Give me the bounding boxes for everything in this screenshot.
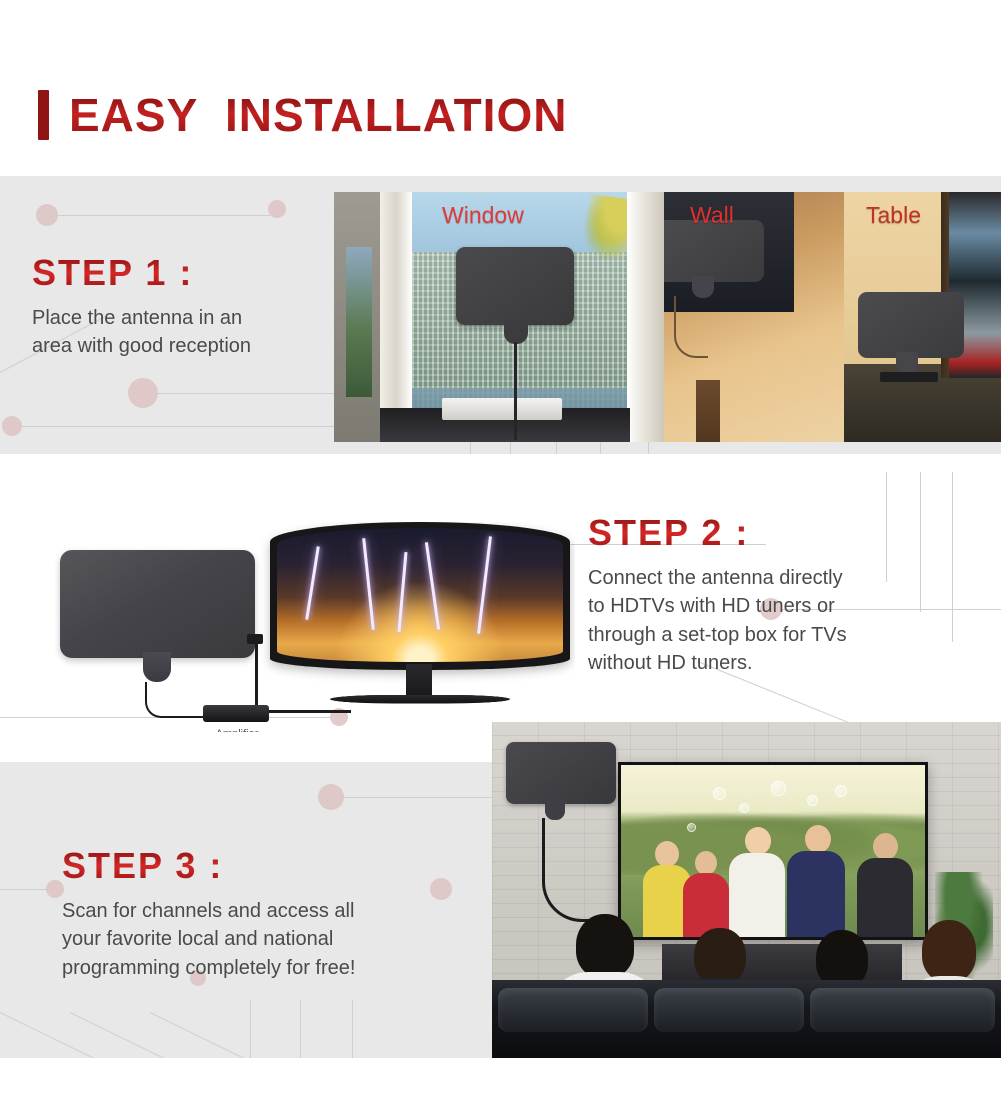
photo-label-table: Table	[866, 202, 921, 229]
circuit-node	[318, 784, 344, 810]
photo-label-wall: Wall	[690, 202, 734, 229]
soap-bubble	[835, 785, 847, 797]
step-3-body-line: your favorite local and national	[62, 925, 492, 953]
step-1-text-block: STEP 1 : Place the antenna in an area wi…	[32, 252, 352, 361]
antenna-panel	[60, 550, 255, 658]
antenna-stand	[880, 372, 938, 382]
step-3-body-line: programming completely for free!	[62, 954, 492, 982]
amplifier-label: Amplifier	[195, 728, 279, 732]
step-1-body-line: area with good reception	[32, 332, 352, 360]
soap-bubble	[739, 803, 749, 813]
tv-screen-lightning	[277, 528, 563, 662]
lightning-bolt	[425, 542, 440, 629]
step-2-body-line: through a set-top box for TVs	[588, 621, 980, 649]
page-title: EASY INSTALLATION	[69, 88, 567, 142]
step-2-text-block: STEP 2 : Connect the antenna directly to…	[588, 512, 980, 678]
circuit-trace	[22, 426, 352, 427]
sofa-cushion	[654, 988, 804, 1032]
leather-sofa	[492, 980, 1001, 1058]
step-2-body-line: without HD tuners.	[588, 649, 980, 677]
scene-table: Table	[844, 192, 1001, 442]
soap-bubble	[771, 781, 786, 796]
title-accent-bar	[38, 90, 49, 140]
antenna-tab	[692, 276, 714, 298]
wall-mounted-tv	[618, 762, 928, 940]
antenna-panel	[506, 742, 616, 804]
circuit-node	[2, 416, 22, 436]
step-3-body-line: Scan for channels and access all	[62, 897, 492, 925]
lightning-bolt	[305, 546, 319, 619]
antenna-tab	[545, 798, 565, 820]
lightning-bolt	[477, 536, 491, 634]
lightning-bolt	[398, 552, 407, 632]
step-2-body-line: to HDTVs with HD tuners or	[588, 592, 980, 620]
step-2-heading: STEP 2 :	[588, 512, 980, 554]
step-3-text-block: STEP 3 : Scan for channels and access al…	[62, 845, 492, 982]
set-top-box	[442, 398, 562, 420]
antenna-tab	[896, 352, 918, 374]
sofa-cushion	[498, 988, 648, 1032]
lightning-bolt	[362, 538, 374, 630]
circuit-trace	[0, 889, 46, 890]
step-2-photo: Amplifier	[55, 522, 575, 732]
antenna-cable	[542, 818, 618, 922]
sofa-cushion	[810, 988, 995, 1032]
circuit-trace	[344, 797, 494, 798]
soap-bubble	[713, 787, 726, 800]
photo-label-window: Window	[442, 202, 524, 229]
circuit-node	[128, 378, 158, 408]
amplifier-power-cable	[255, 642, 258, 710]
antenna-cable	[514, 342, 517, 440]
tv-stand-neck	[406, 664, 432, 698]
usb-plug	[247, 634, 263, 644]
circuit-trace	[70, 1012, 178, 1058]
soap-bubble	[687, 823, 696, 832]
step-1-heading: STEP 1 :	[32, 252, 352, 294]
circuit-trace	[250, 1000, 251, 1058]
antenna-tab	[504, 320, 528, 344]
circuit-trace	[150, 1012, 258, 1058]
header: EASY INSTALLATION	[0, 0, 1001, 176]
antenna-cable	[145, 682, 207, 718]
step-1-body: Place the antenna in an area with good r…	[32, 304, 352, 361]
palm-leaf	[571, 193, 634, 272]
circuit-trace	[300, 1000, 301, 1058]
tv-screen-wedding	[621, 765, 925, 937]
step-1-photo-collage: Window Wall Table	[334, 192, 1001, 442]
window-side-view	[346, 247, 372, 397]
step-3-body: Scan for channels and access all your fa…	[62, 897, 492, 982]
antenna-panel	[664, 220, 764, 282]
antenna-panel	[456, 247, 574, 325]
wall-furniture	[696, 380, 720, 442]
amplifier-unit	[203, 705, 269, 722]
window-frame-right	[627, 192, 664, 442]
tv-stand-base	[327, 695, 512, 704]
step-3-photo	[492, 722, 1001, 1058]
title-row: EASY INSTALLATION	[38, 88, 567, 142]
screen-groom	[787, 825, 845, 937]
antenna-cable	[674, 296, 708, 358]
circuit-trace	[0, 1012, 117, 1058]
circuit-trace	[58, 215, 270, 216]
curved-tv	[270, 522, 570, 712]
circuit-trace	[352, 1000, 353, 1058]
antenna-tab	[143, 652, 171, 682]
step-2-body-line: Connect the antenna directly	[588, 564, 980, 592]
infographic-page: EASY INSTALLATION STEP 1 : Place the ant…	[0, 0, 1001, 1100]
screen-bride	[729, 827, 785, 937]
step-3-heading: STEP 3 :	[62, 845, 492, 887]
coax-cable-to-tv	[269, 710, 351, 713]
scene-window: Window	[334, 192, 664, 442]
scene-wall: Wall	[664, 192, 844, 442]
circuit-node	[268, 200, 286, 218]
antenna-panel	[858, 292, 964, 358]
step-1-body-line: Place the antenna in an	[32, 304, 352, 332]
soap-bubble	[807, 795, 818, 806]
circuit-node	[36, 204, 58, 226]
screen-person	[683, 851, 731, 937]
window-frame-left	[380, 192, 412, 442]
step-2-body: Connect the antenna directly to HDTVs wi…	[588, 564, 980, 678]
